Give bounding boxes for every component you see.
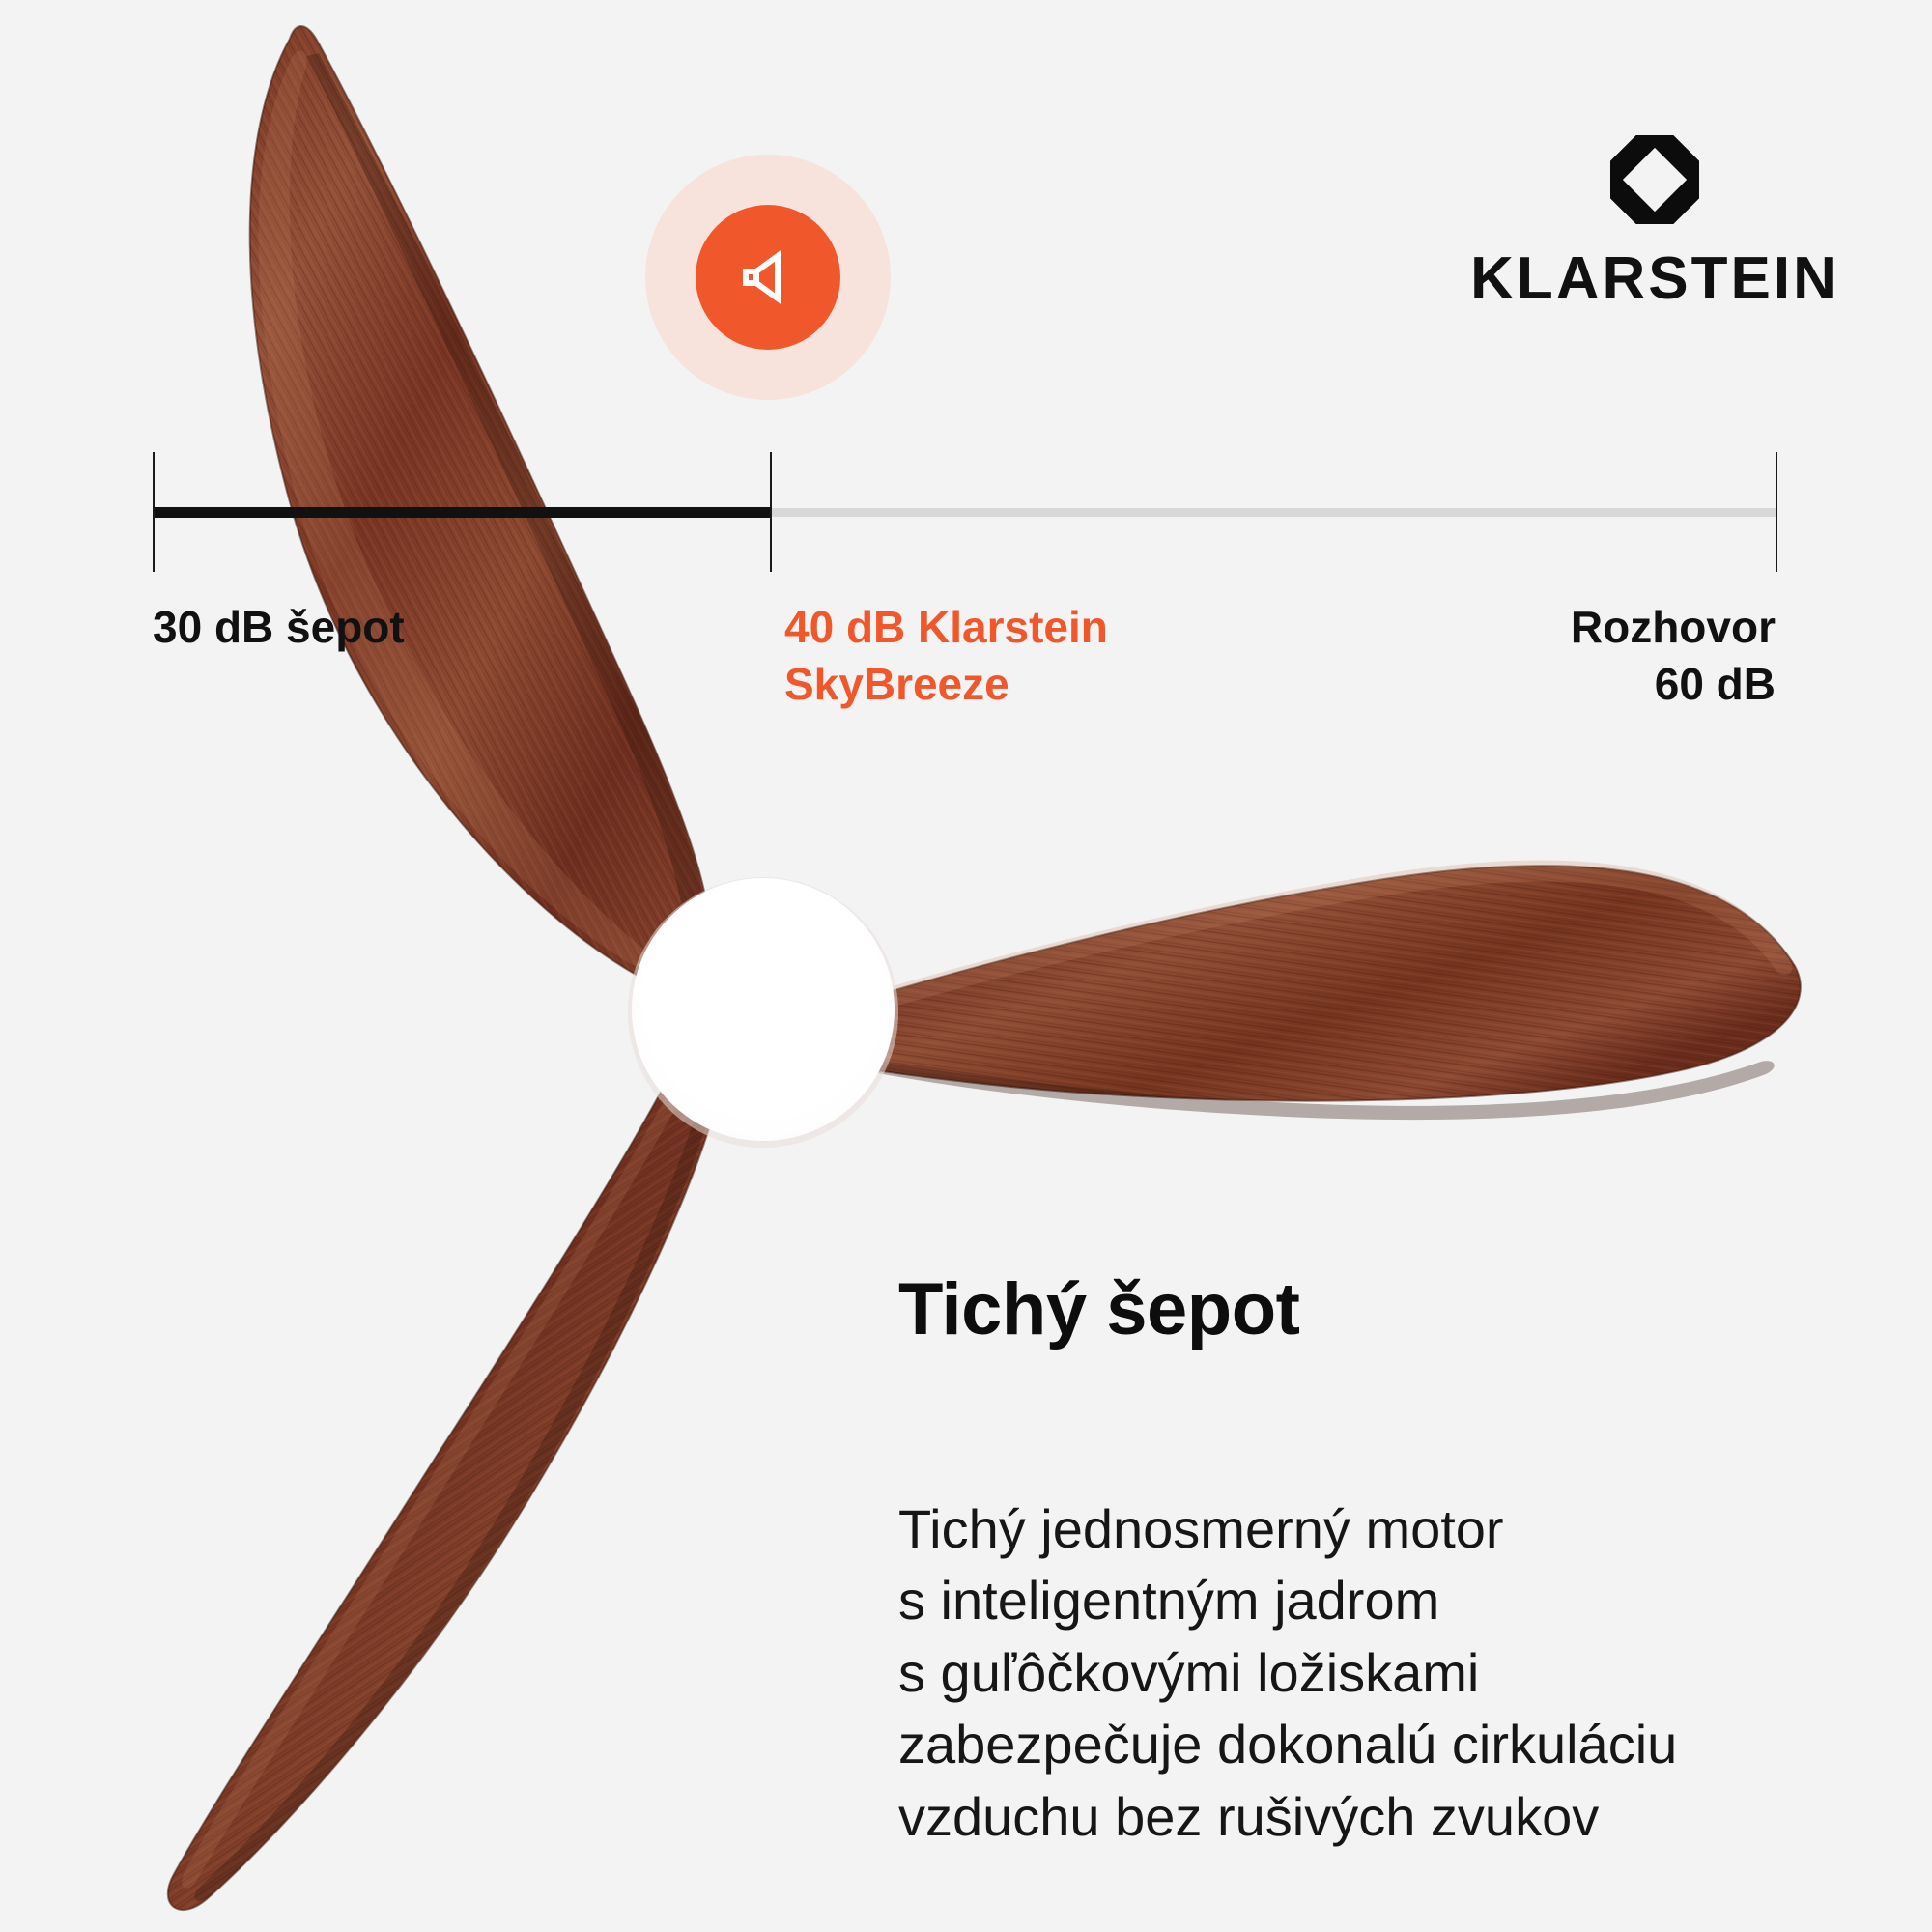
speaker-mute-icon bbox=[730, 240, 806, 315]
scale-tick-60db bbox=[1776, 452, 1777, 572]
fan-blade-right bbox=[763, 861, 1801, 1121]
scale-label-30db: 30 dB šepot bbox=[153, 599, 405, 656]
description-line-5: vzduchu bez rušivých zvukov bbox=[898, 1781, 1874, 1853]
description-line-2: s inteligentným jadrom bbox=[898, 1565, 1874, 1636]
description-line-3: s guľôčkovými ložiskami bbox=[898, 1637, 1874, 1709]
brand-lockup: KLARSTEIN bbox=[1447, 135, 1862, 309]
scale-bar-inactive bbox=[770, 508, 1777, 517]
description-line-4: zabezpečuje dokonalú cirkuláciu bbox=[898, 1709, 1874, 1780]
page-title: Tichý šepot bbox=[898, 1271, 1299, 1349]
scale-bar-active bbox=[153, 507, 772, 518]
brand-name: KLARSTEIN bbox=[1447, 249, 1862, 309]
scale-label-60db: Rozhovor 60 dB bbox=[1293, 599, 1776, 713]
scale-tick-40db bbox=[770, 452, 772, 572]
scale-tick-30db bbox=[153, 452, 155, 572]
fan-hub-light bbox=[628, 877, 898, 1148]
decibel-scale: 30 dB šepot 40 dB Klarstein SkyBreeze Ro… bbox=[0, 0, 1932, 773]
scale-label-40db: 40 dB Klarstein SkyBreeze bbox=[784, 599, 1287, 713]
scale-label-60db-line1: Rozhovor bbox=[1293, 599, 1776, 656]
scale-label-40db-line2: SkyBreeze bbox=[784, 656, 1287, 713]
infographic-canvas: 30 dB šepot 40 dB Klarstein SkyBreeze Ro… bbox=[0, 0, 1932, 1932]
sound-badge bbox=[696, 205, 840, 350]
sound-badge-halo bbox=[645, 155, 891, 400]
scale-label-40db-line1: 40 dB Klarstein bbox=[784, 599, 1287, 656]
description-text: Tichý jednosmerný motor s inteligentným … bbox=[898, 1493, 1874, 1853]
scale-label-60db-line2: 60 dB bbox=[1293, 656, 1776, 713]
description-line-1: Tichý jednosmerný motor bbox=[898, 1493, 1874, 1565]
klarstein-octagon-logo-icon bbox=[1610, 135, 1699, 224]
fan-blade-bottom bbox=[168, 1056, 721, 1910]
